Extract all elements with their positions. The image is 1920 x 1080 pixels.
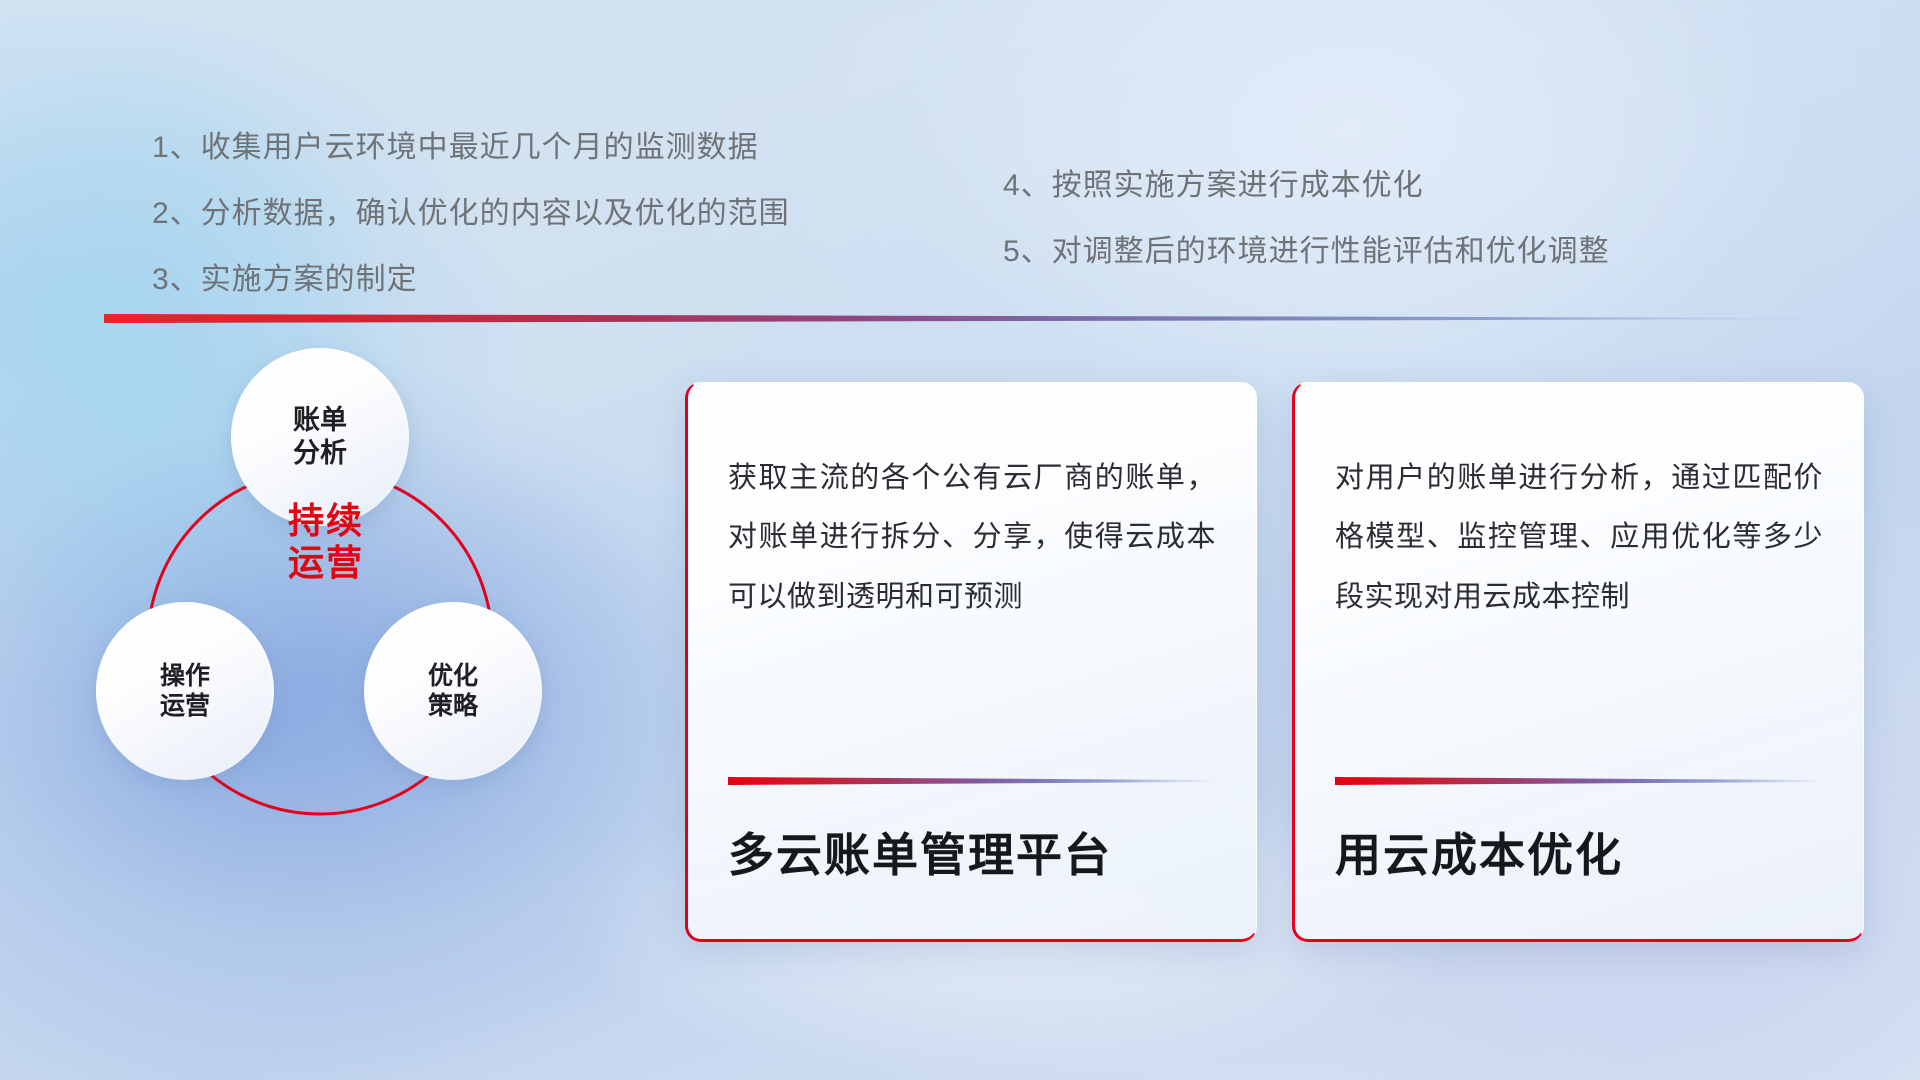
bubble-optimization-strategy[interactable]: 优化 策略 — [364, 602, 542, 780]
step-item-2: 2、分析数据，确认优化的内容以及优化的范围 — [152, 188, 790, 232]
section-divider — [104, 312, 1844, 326]
step-list-right: 4、按照实施方案进行成本优化 5、对调整后的环境进行性能评估和优化调整 — [1003, 160, 1610, 292]
step-list-left: 1、收集用户云环境中最近几个月的监测数据 2、分析数据，确认优化的内容以及优化的… — [152, 122, 790, 320]
bubble-operations-line2: 运营 — [160, 691, 210, 722]
feature-card-multicloud-billing[interactable]: 获取主流的各个公有云厂商的账单，对账单进行拆分、分享，使得云成本可以做到透明和可… — [685, 382, 1257, 942]
feature-card-multicloud-billing-title: 多云账单管理平台 — [728, 819, 1216, 885]
bubble-operations-line1: 操作 — [160, 661, 210, 692]
step-item-1: 1、收集用户云环境中最近几个月的监测数据 — [152, 122, 790, 166]
diagram-center-label: 持续 运营 — [256, 500, 396, 585]
feature-card-multicloud-billing-body: 获取主流的各个公有云厂商的账单，对账单进行拆分、分享，使得云成本可以做到透明和可… — [728, 449, 1216, 627]
feature-card-cloud-cost-optimization-body: 对用户的账单进行分析，通过匹配价格模型、监控管理、应用优化等多少段实现对用云成本… — [1335, 449, 1823, 627]
card-rule-bar — [728, 777, 1216, 785]
bubble-billing-analysis-line2: 分析 — [293, 437, 347, 470]
diagram-center-label-line2: 运营 — [256, 542, 396, 584]
divider-gradient-bar — [104, 314, 1844, 323]
card-rule-bar — [1335, 777, 1823, 785]
feature-card-cloud-cost-optimization[interactable]: 对用户的账单进行分析，通过匹配价格模型、监控管理、应用优化等多少段实现对用云成本… — [1292, 382, 1864, 942]
feature-card-cloud-cost-optimization-title: 用云成本优化 — [1335, 819, 1823, 885]
feature-card-multicloud-billing-rule — [728, 777, 1216, 787]
step-item-4: 4、按照实施方案进行成本优化 — [1003, 160, 1610, 204]
bubble-billing-analysis-line1: 账单 — [293, 404, 347, 437]
bubble-optimization-strategy-line1: 优化 — [428, 661, 478, 692]
bubble-operations[interactable]: 操作 运营 — [96, 602, 274, 780]
diagram-center-label-line1: 持续 — [256, 500, 396, 542]
slide-canvas: 1、收集用户云环境中最近几个月的监测数据 2、分析数据，确认优化的内容以及优化的… — [0, 0, 1920, 1080]
bubble-optimization-strategy-line2: 策略 — [428, 691, 478, 722]
step-item-3: 3、实施方案的制定 — [152, 254, 790, 298]
feature-card-cloud-cost-optimization-rule — [1335, 777, 1823, 787]
continuous-operations-diagram: 账单 分析 操作 运营 优化 策略 持续 运营 — [96, 350, 656, 950]
step-item-5: 5、对调整后的环境进行性能评估和优化调整 — [1003, 226, 1610, 270]
